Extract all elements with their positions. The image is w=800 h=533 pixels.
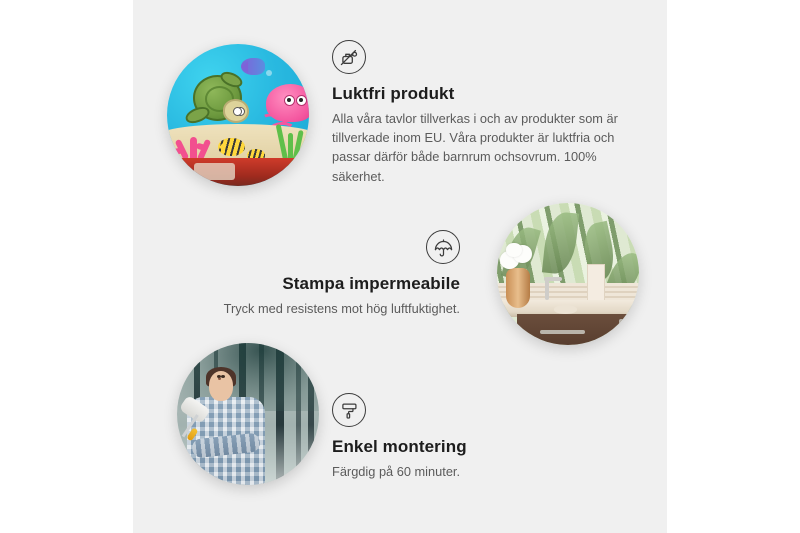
no-odour-perfume-bottle-icon <box>332 40 366 74</box>
feature-title: Enkel montering <box>332 437 582 457</box>
gold-vase <box>506 268 530 308</box>
sunken-ship-wreck <box>167 158 309 186</box>
feature-waterproof: Stampa impermeabile Tryck med resistens … <box>185 230 460 318</box>
turtle-eye <box>233 107 242 116</box>
face <box>209 371 234 401</box>
paint-roller-prop <box>181 401 219 441</box>
paint-roller-icon <box>332 393 366 427</box>
octopus-eye <box>296 95 307 106</box>
white-flowers <box>497 243 540 274</box>
feature-description: Tryck med resistens mot hög luftfuktighe… <box>185 299 460 318</box>
octopus-eye <box>284 95 295 106</box>
feature-mounting: Enkel montering Färgdig på 60 minuter. <box>332 393 582 481</box>
ocean-photo-inner <box>167 44 309 186</box>
sea-turtle-icon <box>184 75 246 123</box>
wooden-vanity-cabinet <box>517 314 639 345</box>
umbrella-icon <box>426 230 460 264</box>
bathroom-photo-inner <box>497 203 639 345</box>
woman-figure <box>186 369 268 485</box>
feature-title: Luktfri produkt <box>332 84 624 104</box>
bubble-icon <box>266 70 272 76</box>
feature-odourless: Luktfri produkt Alla våra tavlor tillver… <box>332 40 624 186</box>
turtle-head <box>223 99 249 122</box>
yellow-striped-fish-icon <box>218 138 245 156</box>
drawer-handle <box>540 330 584 334</box>
screenshot-stage: Luktfri produkt Alla våra tavlor tillver… <box>0 0 800 533</box>
forest-photo-inner <box>177 343 319 485</box>
underwater-kids-scene-photo[interactable] <box>167 44 309 186</box>
soap-bottle <box>587 264 605 303</box>
woman-paint-roller-forest-photo[interactable] <box>177 343 319 485</box>
feature-description: Alla våra tavlor tillverkas i och av pro… <box>332 109 624 186</box>
leaf-shape <box>542 210 580 275</box>
soap-dish <box>554 305 577 314</box>
octopus-head <box>266 84 309 123</box>
faucet-icon <box>545 277 549 300</box>
bathroom-leaf-wallpaper-photo[interactable] <box>497 203 639 345</box>
door-handle <box>619 319 624 344</box>
smile <box>218 376 221 380</box>
eye <box>221 375 225 378</box>
purple-fish-icon <box>241 58 265 75</box>
feature-title: Stampa impermeabile <box>185 274 460 294</box>
feature-description: Färgdig på 60 minuter. <box>332 462 582 481</box>
